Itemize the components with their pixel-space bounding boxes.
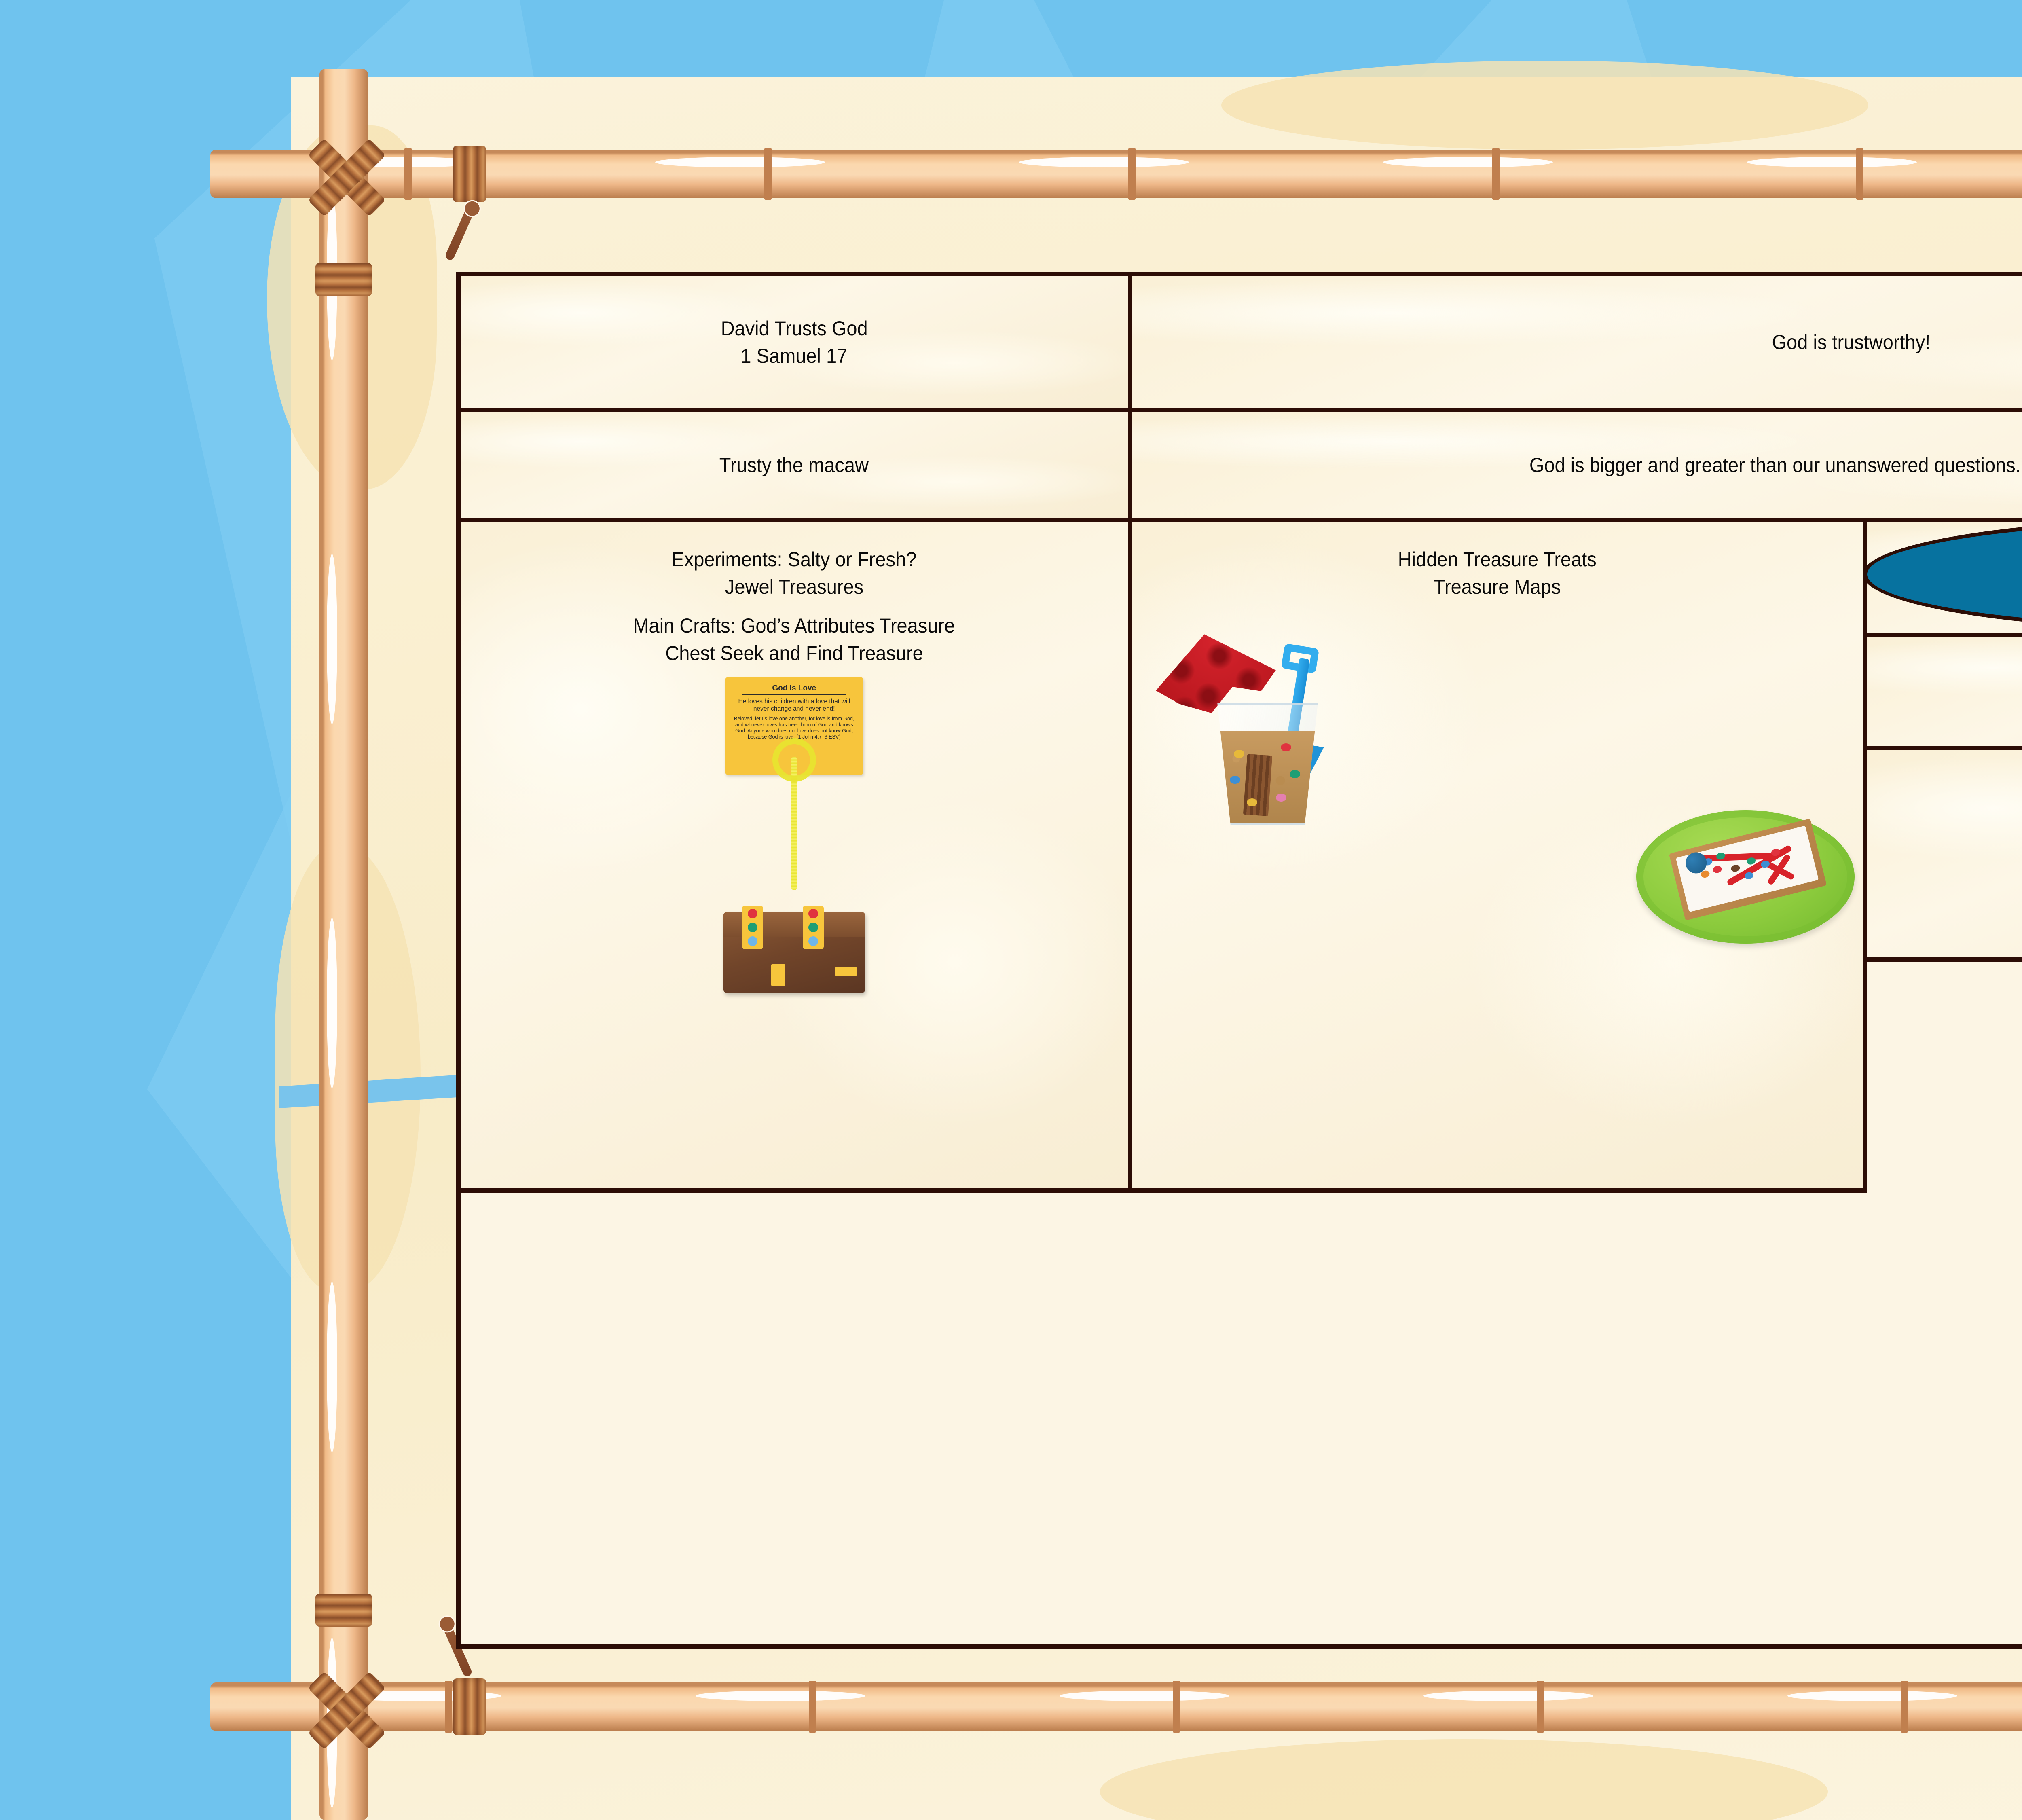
animal-pal-text: Trusty the macaw xyxy=(706,451,882,479)
bamboo-node xyxy=(1128,148,1136,200)
bamboo-node xyxy=(1492,148,1500,200)
cell-apologetics-focus: God is bigger and greater than our unans… xyxy=(1128,408,2022,522)
rope-wrap-bottom-left-h xyxy=(453,1678,486,1735)
green-plate xyxy=(1636,810,1855,944)
treat-item-2: Treasure Maps xyxy=(1421,573,1574,601)
rope-lashing-top-left xyxy=(307,138,384,214)
craft-card-verse: Beloved, let us love one another, for lo… xyxy=(731,716,857,740)
right-column-stack: Proverbs 3:5–6 Games Buccaneer Barriers … xyxy=(1867,522,2022,1644)
bible-passage-title: David Trusts God xyxy=(708,315,880,342)
cell-tropical-treats: Hidden Treasure Treats Treasure Maps xyxy=(1128,518,1867,1193)
bamboo-node xyxy=(445,1681,452,1733)
lesson-focus-text: God is trustworthy! xyxy=(1759,328,1944,356)
craft-card-title: God is Love xyxy=(742,684,846,695)
bamboo-node xyxy=(1856,148,1863,200)
treasure-map-cracker xyxy=(1669,819,1826,921)
treat-item-1: Hidden Treasure Treats xyxy=(1385,546,1610,573)
rope-wrap-top-left-h xyxy=(453,146,486,202)
treasure-chest xyxy=(723,912,865,993)
craft-photo-treasure-chest: God is Love He loves his children with a… xyxy=(461,677,1128,993)
rope-wrap-left-v2 xyxy=(315,1594,372,1627)
craft-experiment-2: Jewel Treasures xyxy=(712,573,876,601)
chest-strap xyxy=(742,906,763,949)
cell-animal-pal: Trusty the macaw xyxy=(456,408,1132,522)
day5-overview-table: Bible Passages Day 5 Lesson Focus David … xyxy=(456,272,2022,1649)
cell-crafts-science: Experiments: Salty or Fresh? Jewel Treas… xyxy=(456,518,1132,1193)
bamboo-node xyxy=(809,1681,816,1733)
treat-photos xyxy=(1132,614,1863,946)
cell-day5-lesson-focus: God is trustworthy! xyxy=(1128,272,2022,412)
rope-lashing-bottom-left xyxy=(307,1670,384,1747)
bamboo-node xyxy=(1173,1681,1180,1733)
craft-main-1: Main Crafts: God’s Attributes Treasure xyxy=(620,612,968,639)
table-row: Trusty the macaw God is bigger and great… xyxy=(461,412,2022,522)
craft-experiment-1: Experiments: Salty or Fresh? xyxy=(659,546,930,573)
craft-main-2: Chest Seek and Find Treasure xyxy=(652,639,936,667)
chest-handle xyxy=(835,967,857,976)
bamboo-node xyxy=(1901,1681,1908,1733)
chest-lock xyxy=(771,964,785,986)
cell-bible-passages: David Trusts God 1 Samuel 17 xyxy=(456,272,1132,412)
craft-card-line: He loves his children with a love that w… xyxy=(731,698,857,713)
rope-wrap-left-v xyxy=(315,263,372,296)
bamboo-node xyxy=(404,148,412,200)
pipe-cleaner-coil xyxy=(772,738,816,782)
bible-passage-reference: 1 Samuel 17 xyxy=(728,342,861,370)
bamboo-node xyxy=(764,148,772,200)
cell-cool-contests: Mission Money Mania xyxy=(1863,746,2022,962)
cell-games: Buccaneer Barriers What’s the Treasure? xyxy=(1863,633,2022,750)
table-row: Experiments: Salty or Fresh? Jewel Treas… xyxy=(461,522,2022,1644)
table-row: David Trusts God 1 Samuel 17 God is trus… xyxy=(461,276,2022,412)
chocolate-bar xyxy=(1243,754,1272,816)
bamboo-pole-left xyxy=(319,69,368,1820)
chest-strap xyxy=(803,906,824,949)
bamboo-node xyxy=(1537,1681,1544,1733)
apologetics-focus-text: God is bigger and greater than our unans… xyxy=(1516,451,2022,479)
sand-cup-treat xyxy=(1213,703,1322,825)
